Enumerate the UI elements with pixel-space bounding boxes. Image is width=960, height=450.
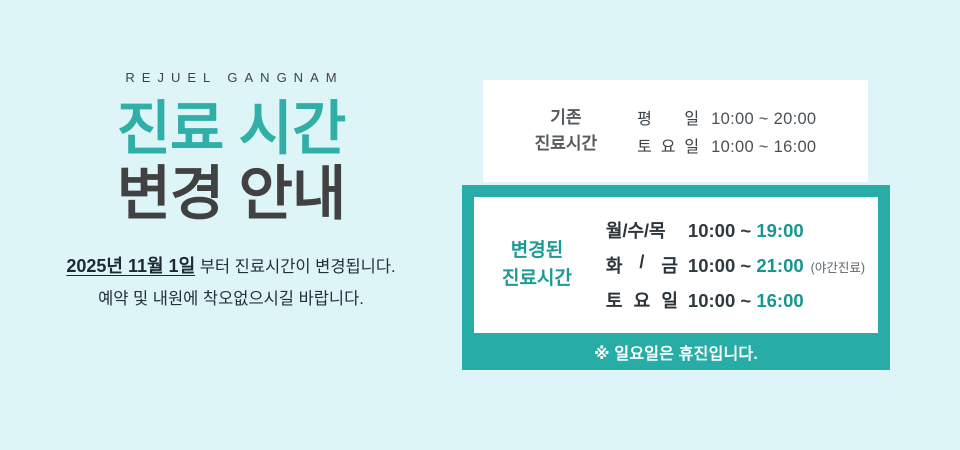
headline-line-1: 진료 시간 xyxy=(117,99,346,160)
sunday-closed-note: ※ 일요일은 휴진입니다. xyxy=(462,333,890,370)
new-time-value: 10:00 ~ 21:00(야간진료) xyxy=(688,255,865,277)
day-char: 평 xyxy=(637,105,652,129)
subtitle-block: 2025년 11월 1일 부터 진료시간이 변경됩니다. 예약 및 내원에 착오… xyxy=(66,252,395,309)
night-clinic-note: (야간진료) xyxy=(811,261,865,275)
time-separator: ~ xyxy=(740,220,751,241)
announcement-banner: REJUEL GANGNAM 진료 시간 변경 안내 2025년 11월 1일 … xyxy=(0,0,960,450)
old-hours-rows: 평 일 10:00 ~ 20:00 토 요 일 10:00 ~ 16:00 xyxy=(637,105,816,157)
old-hours-label-line-1: 기존 xyxy=(535,105,598,131)
page-title: 진료 시간 변경 안내 xyxy=(117,99,346,226)
old-hours-card: 기존 진료시간 평 일 10:00 ~ 20:00 토 요 일 xyxy=(483,80,868,182)
new-day-label: 화 / 금 xyxy=(606,252,678,278)
start-time: 10:00 xyxy=(688,220,735,241)
table-row: 평 일 10:00 ~ 20:00 xyxy=(637,105,816,129)
new-hours-label: 변경된 진료시간 xyxy=(502,237,572,294)
old-time-value: 10:00 ~ 20:00 xyxy=(711,110,816,129)
new-hours-panel: 변경된 진료시간 월/수/목 10:00 ~ 19:00 xyxy=(474,197,878,333)
day-char: 금 xyxy=(661,252,678,278)
brand-kicker: REJUEL GANGNAM xyxy=(118,70,343,85)
day-char: 요 xyxy=(661,133,676,157)
subtitle-note: 예약 및 내원에 착오없으시길 바랍니다. xyxy=(66,285,395,309)
day-char: 일 xyxy=(684,133,699,157)
table-row: 토 요 일 10:00 ~ 16:00 xyxy=(606,287,865,313)
day-text: 월/수/목 xyxy=(606,217,666,243)
old-hours-label-line-2: 진료시간 xyxy=(535,131,598,157)
time-separator: ~ xyxy=(740,255,751,276)
old-time-value: 10:00 ~ 16:00 xyxy=(711,138,816,157)
new-hours-rows: 월/수/목 10:00 ~ 19:00 화 / 금 10:00 xyxy=(606,217,865,313)
new-hours-inner: 변경된 진료시간 월/수/목 10:00 ~ 19:00 xyxy=(474,217,865,313)
start-time: 10:00 xyxy=(688,290,735,311)
new-time-value: 10:00 ~ 19:00 xyxy=(688,220,804,242)
left-text-block: REJUEL GANGNAM 진료 시간 변경 안내 2025년 11월 1일 … xyxy=(0,70,462,309)
new-hours-label-line-2: 진료시간 xyxy=(502,265,572,294)
day-char: 토 xyxy=(637,133,652,157)
table-row: 월/수/목 10:00 ~ 19:00 xyxy=(606,217,865,243)
new-day-label: 토 요 일 xyxy=(606,287,678,313)
day-char: 토 xyxy=(606,287,623,313)
effective-date-line: 2025년 11월 1일 부터 진료시간이 변경됩니다. xyxy=(66,252,395,278)
new-time-value: 10:00 ~ 16:00 xyxy=(688,290,804,312)
day-char: 화 xyxy=(606,252,623,278)
day-char: 일 xyxy=(661,287,678,313)
new-day-label: 월/수/목 xyxy=(606,217,678,243)
new-hours-label-line-1: 변경된 xyxy=(502,237,572,266)
old-day-label: 토 요 일 xyxy=(637,133,699,157)
day-char: 요 xyxy=(634,287,651,313)
end-time: 19:00 xyxy=(756,220,803,241)
old-day-label: 평 일 xyxy=(637,105,699,129)
end-time: 21:00 xyxy=(756,255,803,276)
start-time: 10:00 xyxy=(688,255,735,276)
old-hours-inner: 기존 진료시간 평 일 10:00 ~ 20:00 토 요 일 xyxy=(535,105,817,158)
effective-date: 2025년 11월 1일 xyxy=(66,256,195,276)
day-char: / xyxy=(639,252,644,278)
table-row: 화 / 금 10:00 ~ 21:00(야간진료) xyxy=(606,252,865,278)
table-row: 토 요 일 10:00 ~ 16:00 xyxy=(637,133,816,157)
headline-line-2: 변경 안내 xyxy=(117,164,346,225)
day-char: 일 xyxy=(684,105,699,129)
new-hours-card: 변경된 진료시간 월/수/목 10:00 ~ 19:00 xyxy=(462,185,890,370)
effective-date-suffix: 부터 진료시간이 변경됩니다. xyxy=(195,258,396,276)
old-hours-label: 기존 진료시간 xyxy=(535,105,598,158)
time-separator: ~ xyxy=(740,290,751,311)
end-time: 16:00 xyxy=(756,290,803,311)
